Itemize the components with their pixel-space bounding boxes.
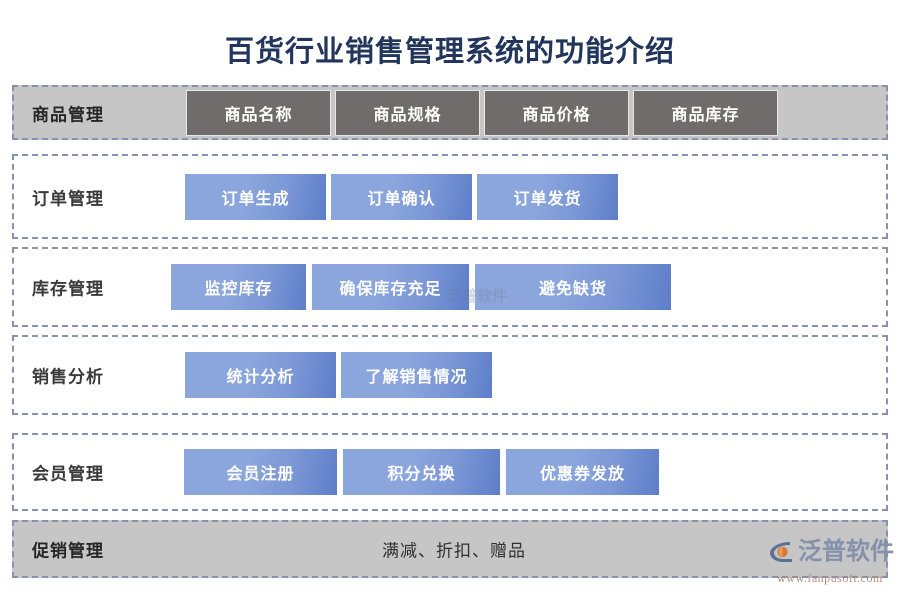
row-label-product-management: 商品管理 — [32, 100, 104, 125]
feature-row-order-management: 订单管理 订单生成 订单确认 订单发货 — [12, 154, 888, 239]
feature-row-promotion-management: 促销管理 满减、折扣、赠品 — [12, 520, 888, 578]
button-points-exchange[interactable]: 积分兑换 — [343, 449, 500, 495]
button-strip-sales-analysis: 统计分析 了解销售情况 — [185, 352, 492, 398]
button-statistical-analysis[interactable]: 统计分析 — [185, 352, 336, 398]
button-strip-product-management: 商品名称 商品规格 商品价格 商品库存 — [186, 90, 778, 136]
button-order-confirm[interactable]: 订单确认 — [331, 174, 472, 220]
row-label-order-management: 订单管理 — [32, 184, 104, 209]
promotion-types-text: 满减、折扣、赠品 — [382, 537, 526, 562]
button-product-stock[interactable]: 商品库存 — [633, 90, 778, 136]
button-strip-inventory-management: 监控库存 确保库存充足 避免缺货 — [171, 264, 671, 310]
button-avoid-stockout[interactable]: 避免缺货 — [475, 264, 671, 310]
feature-row-product-management: 商品管理 商品名称 商品规格 商品价格 商品库存 — [12, 85, 888, 140]
row-label-inventory-management: 库存管理 — [32, 275, 104, 300]
slide-canvas: 百货行业销售管理系统的功能介绍 商品管理 商品名称 商品规格 商品价格 商品库存… — [0, 0, 900, 600]
feature-row-inventory-management: 库存管理 监控库存 确保库存充足 避免缺货 — [12, 247, 888, 327]
feature-row-member-management: 会员管理 会员注册 积分兑换 优惠券发放 — [12, 433, 888, 511]
page-title: 百货行业销售管理系统的功能介绍 — [0, 28, 900, 70]
button-member-register[interactable]: 会员注册 — [184, 449, 337, 495]
button-product-price[interactable]: 商品价格 — [484, 90, 629, 136]
button-product-name[interactable]: 商品名称 — [186, 90, 331, 136]
button-order-ship[interactable]: 订单发货 — [477, 174, 618, 220]
button-monitor-stock[interactable]: 监控库存 — [171, 264, 306, 310]
button-strip-order-management: 订单生成 订单确认 订单发货 — [185, 174, 618, 220]
button-understand-sales[interactable]: 了解销售情况 — [341, 352, 492, 398]
button-product-spec[interactable]: 商品规格 — [335, 90, 480, 136]
feature-row-sales-analysis: 销售分析 统计分析 了解销售情况 — [12, 335, 888, 415]
row-label-member-management: 会员管理 — [32, 460, 104, 485]
button-order-create[interactable]: 订单生成 — [185, 174, 326, 220]
button-coupon-issue[interactable]: 优惠券发放 — [506, 449, 659, 495]
button-strip-member-management: 会员注册 积分兑换 优惠券发放 — [184, 449, 659, 495]
button-ensure-sufficient-stock[interactable]: 确保库存充足 — [312, 264, 469, 310]
row-label-promotion-management: 促销管理 — [32, 537, 104, 562]
row-label-sales-analysis: 销售分析 — [32, 363, 104, 388]
